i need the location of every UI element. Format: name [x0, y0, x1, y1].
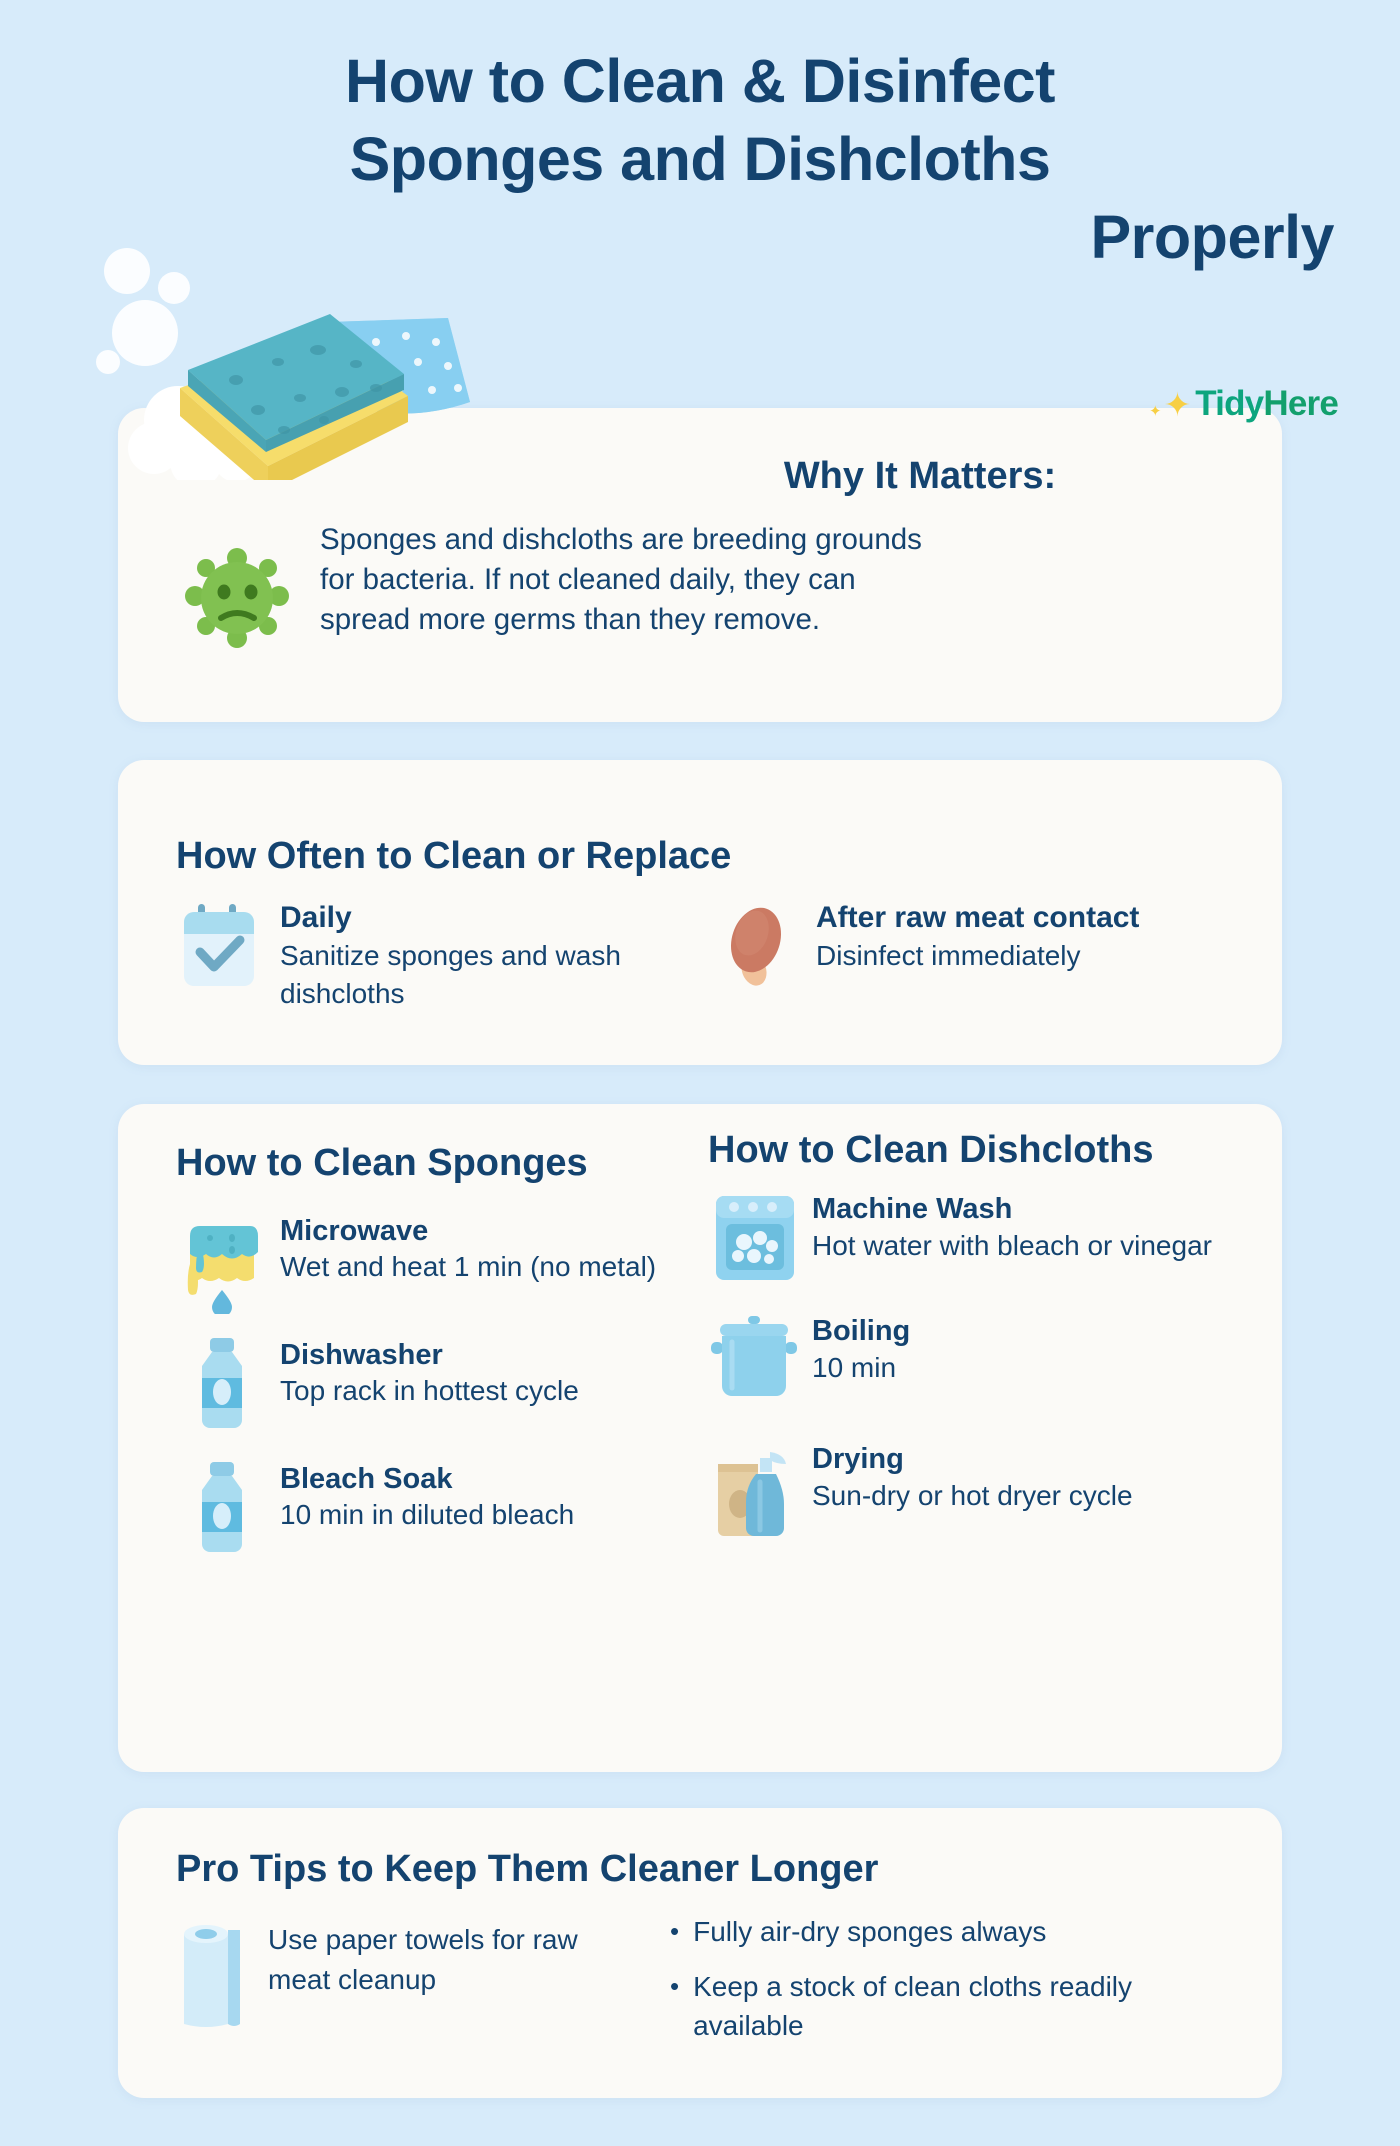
how-often-item-title: After raw meat contact	[816, 900, 1202, 937]
calendar-check-icon	[176, 900, 262, 996]
brand-name-tidy: Tidy	[1195, 384, 1263, 423]
page-title: How to Clean & Disinfect Sponges and Dis…	[60, 42, 1340, 276]
pro-tips-bullet-text: Fully air-dry sponges always	[693, 1912, 1046, 1951]
pro-tips-bullet-text: Keep a stock of clean cloths readily ava…	[693, 1967, 1250, 2045]
clean-sponge-item-desc: 10 min in diluted bleach	[280, 1496, 696, 1535]
how-to-clean-sponges-heading: How to Clean Sponges	[176, 1142, 696, 1186]
sparkle-small-icon: ✦	[1149, 404, 1162, 419]
clean-dishcloth-item-text: Machine Wash Hot water with bleach or vi…	[812, 1186, 1248, 1265]
pro-tips-bullet-list: • Fully air-dry sponges always • Keep a …	[670, 1912, 1250, 2062]
title-line-3: Properly	[60, 198, 1340, 276]
sparkle-icon: ✦	[1164, 388, 1192, 421]
clean-dishcloth-item-title: Boiling	[812, 1314, 1248, 1349]
clean-dishcloth-item-desc: Hot water with bleach or vinegar	[812, 1227, 1248, 1266]
how-often-item-desc: Disinfect immediately	[816, 937, 1202, 975]
bullet-icon: •	[670, 1967, 679, 2045]
how-often-item-title: Daily	[280, 900, 666, 937]
clean-sponge-item-microwave: Microwave Wet and heat 1 min (no metal)	[176, 1208, 696, 1314]
washing-machine-icon	[708, 1186, 800, 1292]
raw-meat-drumstick-icon	[712, 900, 798, 996]
clean-sponge-item-desc: Wet and heat 1 min (no metal)	[280, 1248, 696, 1287]
pro-tips-left-item: Use paper towels for raw meat cleanup	[176, 1916, 646, 2036]
title-line-1: How to Clean & Disinfect	[60, 42, 1340, 120]
clean-sponge-item-text: Dishwasher Top rack in hottest cycle	[280, 1332, 696, 1411]
pro-tips-bullet: • Fully air-dry sponges always	[670, 1912, 1250, 1951]
spray-bottle-icon	[708, 1436, 800, 1542]
clean-dishcloth-item-desc: 10 min	[812, 1349, 1248, 1388]
how-to-clean-dishcloths-column: How to Clean Dishcloths Machine Wash Hot…	[708, 1128, 1248, 1542]
how-often-items: Daily Sanitize sponges and wash dishclot…	[176, 900, 1236, 1013]
bubble-decoration	[96, 350, 120, 374]
clean-dishcloth-item-text: Drying Sun-dry or hot dryer cycle	[812, 1436, 1248, 1515]
paper-towel-roll-icon	[176, 1916, 252, 2036]
how-to-clean-dishcloths-heading: How to Clean Dishcloths	[708, 1128, 1248, 1172]
bleach-bottle-icon	[176, 1332, 268, 1438]
clean-dishcloth-item-drying: Drying Sun-dry or hot dryer cycle	[708, 1436, 1248, 1542]
wet-sponge-drip-icon	[176, 1208, 268, 1314]
clean-dishcloth-item-title: Drying	[812, 1442, 1248, 1477]
bleach-bottle-icon	[176, 1456, 268, 1562]
clean-sponge-item-text: Microwave Wet and heat 1 min (no metal)	[280, 1208, 696, 1287]
clean-sponge-item-text: Bleach Soak 10 min in diluted bleach	[280, 1456, 696, 1535]
clean-dishcloth-item-desc: Sun-dry or hot dryer cycle	[812, 1477, 1248, 1516]
clean-dishcloth-item-title: Machine Wash	[812, 1192, 1248, 1227]
boiling-pot-icon	[708, 1308, 800, 1414]
brand-logo[interactable]: ✦ ✦ TidyHere	[1149, 384, 1338, 424]
how-often-item-desc: Sanitize sponges and wash dishcloths	[280, 937, 666, 1013]
why-it-matters-body: Sponges and dishcloths are breeding grou…	[320, 520, 950, 640]
how-often-item-raw-meat: After raw meat contact Disinfect immedia…	[712, 900, 1202, 1013]
title-line-2: Sponges and Dishcloths	[60, 120, 1340, 198]
clean-sponge-item-desc: Top rack in hottest cycle	[280, 1372, 696, 1411]
sponge-and-dishcloth-illustration	[118, 270, 558, 480]
germ-icon	[170, 528, 305, 663]
how-to-clean-sponges-column: How to Clean Sponges Microwave Wet and h…	[176, 1142, 696, 1562]
brand-name-here: Here	[1263, 384, 1338, 423]
how-often-item-text: After raw meat contact Disinfect immedia…	[816, 900, 1202, 1013]
clean-sponge-item-title: Microwave	[280, 1214, 696, 1249]
pro-tips-heading: Pro Tips to Keep Them Cleaner Longer	[176, 1848, 878, 1891]
clean-dishcloth-item-text: Boiling 10 min	[812, 1308, 1248, 1387]
how-often-heading: How Often to Clean or Replace	[176, 835, 731, 878]
pro-tips-left-text: Use paper towels for raw meat cleanup	[268, 1916, 646, 2036]
clean-sponge-item-title: Dishwasher	[280, 1338, 696, 1373]
clean-dishcloth-item-boiling: Boiling 10 min	[708, 1308, 1248, 1414]
clean-sponge-item-title: Bleach Soak	[280, 1462, 696, 1497]
brand-name: TidyHere	[1195, 384, 1338, 424]
clean-sponge-item-bleach-soak: Bleach Soak 10 min in diluted bleach	[176, 1456, 696, 1562]
how-often-item-daily: Daily Sanitize sponges and wash dishclot…	[176, 900, 666, 1013]
how-often-item-text: Daily Sanitize sponges and wash dishclot…	[280, 900, 666, 1013]
clean-sponge-item-dishwasher: Dishwasher Top rack in hottest cycle	[176, 1332, 696, 1438]
clean-dishcloth-item-machine-wash: Machine Wash Hot water with bleach or vi…	[708, 1186, 1248, 1292]
why-it-matters-heading: Why It Matters:	[560, 455, 1280, 498]
bullet-icon: •	[670, 1912, 679, 1951]
pro-tips-bullet: • Keep a stock of clean cloths readily a…	[670, 1967, 1250, 2045]
